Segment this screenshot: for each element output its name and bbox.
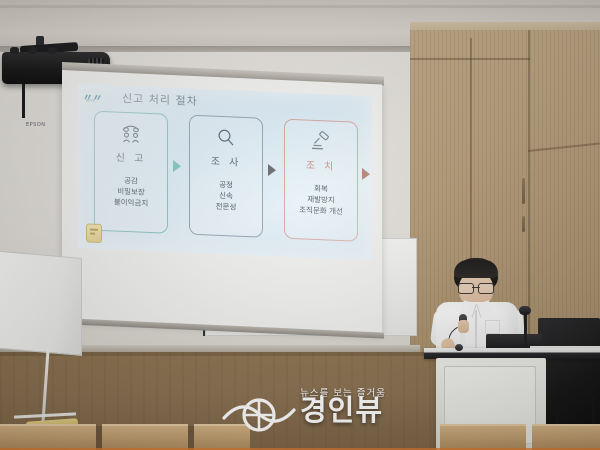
panel-3-line-3: 조직문화 개선 <box>285 204 357 218</box>
slide-panel-action: 조 치 회복 재발방지 조직문화 개선 <box>284 119 358 242</box>
av-equipment-right <box>538 318 600 438</box>
slide-panel-body-2: 공정 신속 전문성 <box>190 178 262 214</box>
gavel-icon <box>285 130 357 155</box>
slide-logo-subtext: 경기도 <box>86 98 95 102</box>
bench-row-4 <box>440 424 526 450</box>
projected-slide: 〃〃 경기도 신고 처리 절차 신 고 공감 <box>78 84 372 260</box>
door-handle-icon[interactable] <box>522 178 525 204</box>
glasses-lens-right <box>478 283 494 294</box>
slide-panel-heading-3: 조 치 <box>285 156 357 174</box>
report-people-icon <box>95 122 167 147</box>
slide-panel-report: 신 고 공감 비밀보장 불이익금지 <box>94 111 168 234</box>
presenter-hand-holding-mic <box>458 320 469 333</box>
magnifier-icon <box>190 126 262 151</box>
slide-title: 신고 처리 절차 <box>122 90 198 109</box>
bench-row-2 <box>102 424 188 450</box>
panel-seam <box>528 142 600 151</box>
projector-knob-2 <box>28 47 37 54</box>
flow-arrow-3-icon <box>362 168 370 180</box>
flow-arrow-2-icon <box>268 164 276 176</box>
eye-circle-logo-icon <box>222 394 296 438</box>
table-knob <box>455 344 463 351</box>
slide-panel-heading-1: 신 고 <box>95 148 167 166</box>
presenter-fringe <box>454 260 498 278</box>
lecture-hall-photo: EPSON 〃〃 경기도 신고 처리 절차 <box>0 0 600 450</box>
slide-panel-body-1: 공감 비밀보장 불이익금지 <box>95 174 167 210</box>
bench-row-1 <box>0 424 96 450</box>
desk-mic-stand <box>524 312 527 350</box>
projector-cable <box>22 84 25 118</box>
desk-mic-head-icon <box>519 306 531 315</box>
slide-panel-investigate: 조 사 공정 신속 전문성 <box>189 115 263 238</box>
slide-panel-heading-2: 조 사 <box>190 152 262 170</box>
glasses-icon <box>458 283 494 292</box>
flipchart-board <box>0 250 82 356</box>
door-seam-top <box>410 58 530 60</box>
slide-panels: 신 고 공감 비밀보장 불이익금지 조 사 공정 신속 전문 <box>94 111 356 244</box>
panel-1-line-3: 불이익금지 <box>95 196 167 210</box>
glasses-lens-left <box>458 283 474 294</box>
flow-arrow-1-icon <box>173 160 181 172</box>
bench-row-5 <box>532 424 600 450</box>
door-handle-lower-icon[interactable] <box>522 216 525 232</box>
projector-knob-1 <box>10 47 19 54</box>
character-mascot-icon <box>86 223 102 243</box>
projector-brand-label: EPSON <box>26 122 46 128</box>
panel-2-line-3: 전문성 <box>190 200 262 214</box>
projector-knob-3 <box>48 47 57 54</box>
watermark: 뉴스를 보는 즐거움 경인뷰 <box>222 382 402 444</box>
ceiling-seam <box>0 5 600 8</box>
watermark-brand: 경인뷰 <box>300 396 383 425</box>
slide-logo: 〃〃 경기도 <box>84 89 110 105</box>
slide-panel-body-3: 회복 재발방지 조직문화 개선 <box>285 182 357 218</box>
